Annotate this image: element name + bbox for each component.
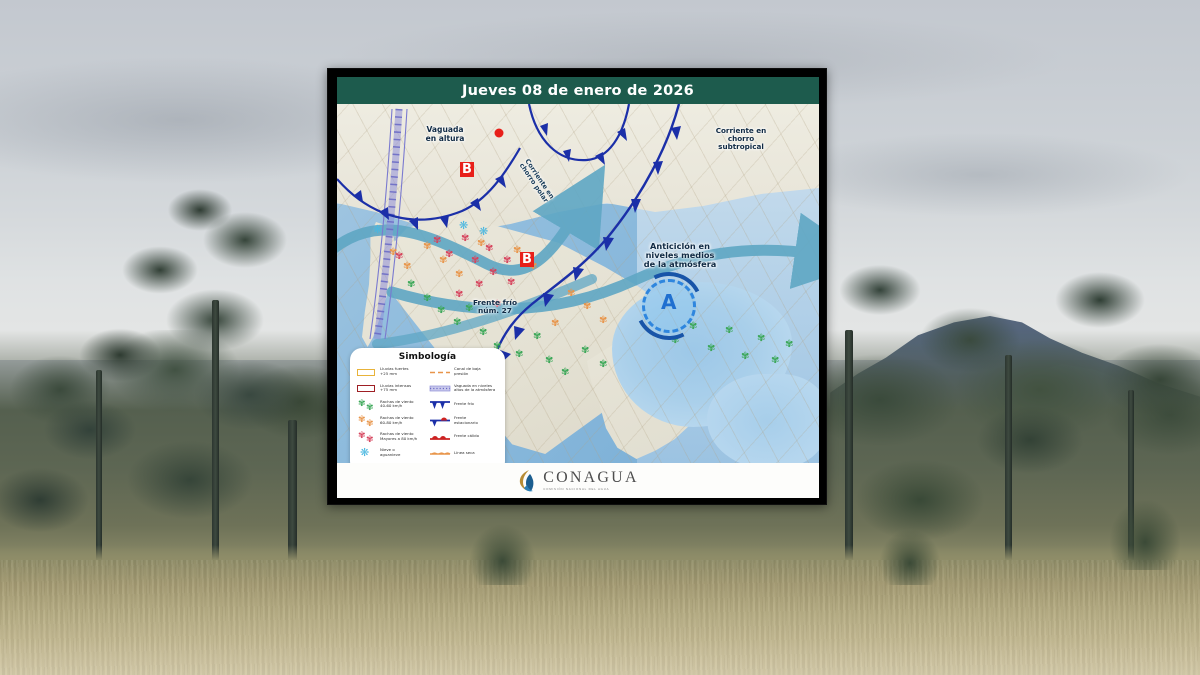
gust-icon-mild: ✾ [453, 318, 461, 328]
grass-texture [0, 560, 1200, 675]
gust-icon-strong: ✾ [445, 250, 453, 260]
legend-item-label: Frente estacionario [454, 416, 478, 425]
legend-left-column: Lluvias fuertes +25 mm Lluvias intensas … [355, 365, 426, 463]
gust-icon-strong: ✾ [395, 252, 403, 262]
cold-front-northwest [337, 148, 520, 230]
weather-map-canvas[interactable]: ✾ ✾ ✾ ✾ ✾ ✾ ✾ ✾ ✾ ✾ ✾ ✾ ✾ ✾ ✾ ✾ ✾ ✾ ✾ ✾ [337, 104, 819, 463]
conagua-weather-map-panel[interactable]: Jueves 08 de enero de 2026 [327, 68, 827, 505]
conagua-logo: CONAGUA COMISIÓN NACIONAL DEL AGUA [517, 469, 638, 493]
legend-box[interactable]: Simbología Lluvias fuertes +25 mm [350, 348, 505, 463]
conagua-logo-name: CONAGUA [543, 470, 638, 486]
conagua-eagle-water-icon [517, 469, 537, 493]
legend-right-column: Canal de baja presión Vaguada en niveles… [429, 365, 500, 463]
gust-icon: ✾ [551, 319, 559, 329]
legend-item-label: Frente frío [454, 402, 474, 407]
gust-icon: ✾ [567, 289, 575, 299]
trough-dashed-orange-icon [429, 366, 451, 379]
legend-item-linea-seca[interactable]: Línea seca [429, 446, 500, 460]
gust-icon-mild: ✾ [581, 346, 589, 356]
gust-icon-mild: ✾ [545, 356, 553, 366]
gust-icon-strong: ✾ [471, 256, 479, 266]
legend-item-rachas-40-60[interactable]: ✾ ✾ Rachas de viento 40-60 km/h [355, 397, 426, 411]
legend-item-label: Lluvias fuertes +25 mm [380, 367, 409, 376]
legend-item-label: Nieve o aguanieve [380, 448, 400, 457]
legend-item-lluvias-intensas[interactable]: Lluvias intensas +75 mm [355, 381, 426, 395]
gust-icon-strong: ✾ [433, 236, 441, 246]
wind-gust-green-icon: ✾ ✾ [355, 398, 377, 411]
legend-item-label: Rachas de viento Mayores a 80 km/h [380, 432, 417, 441]
legend-item-label: Frente cálido [454, 434, 479, 439]
gust-icon-mild: ✾ [599, 360, 607, 370]
snow-icon: ❋ [479, 226, 488, 237]
rain-box-red-icon [355, 382, 377, 395]
legend-item-frente-estacionario[interactable]: Frente estacionario [429, 414, 500, 428]
legend-item-label: Vaguada en niveles altos de la atmósfera [454, 384, 495, 393]
gust-icon: ✾ [599, 316, 607, 326]
conagua-logo-text: CONAGUA COMISIÓN NACIONAL DEL AGUA [543, 470, 638, 491]
gust-icon-strong: ✾ [489, 268, 497, 278]
gust-icon-mild: ✾ [707, 344, 715, 354]
gust-icon-mild: ✾ [423, 294, 431, 304]
gust-icon-mild: ✾ [725, 326, 733, 336]
gust-icon-mild: ✾ [561, 368, 569, 378]
gust-icon: ✾ [455, 270, 463, 280]
shrub [880, 530, 940, 585]
snow-icon: ❋ [459, 220, 468, 231]
gust-icon-strong: ✾ [507, 278, 515, 288]
low-pressure-b-marker-north: B [460, 162, 474, 177]
legend-item-nieve[interactable]: ❋ Nieve o aguanieve [355, 446, 426, 460]
legend-item-canal-baja-presion[interactable]: Canal de baja presión [429, 365, 500, 379]
gust-icon-mild: ✾ [757, 334, 765, 344]
snow-icon: ❋ [355, 446, 377, 459]
cold-front-icon [429, 398, 451, 411]
gust-icon-mild: ✾ [741, 352, 749, 362]
legend-item-rachas-mayores-80[interactable]: ✾ ✾ Rachas de viento Mayores a 80 km/h [355, 430, 426, 444]
gust-icon-mild: ✾ [437, 306, 445, 316]
snow-icon: ❋ [373, 224, 382, 235]
map-footer: CONAGUA COMISIÓN NACIONAL DEL AGUA [337, 463, 819, 498]
gust-icon-strong: ✾ [503, 256, 511, 266]
conagua-logo-subtitle: COMISIÓN NACIONAL DEL AGUA [543, 488, 638, 491]
anticyclone-a-marker: A [661, 290, 676, 314]
gust-icon-strong: ✾ [461, 234, 469, 244]
gust-icon-mild: ✾ [515, 350, 523, 360]
legend-item-vaguada-niveles-altos[interactable]: Vaguada en niveles altos de la atmósfera [429, 381, 500, 395]
gust-icon-mild: ✾ [465, 304, 473, 314]
polar-jet-stream [337, 212, 577, 270]
wind-gust-orange-icon: ✾ ✾ [355, 414, 377, 427]
legend-item-onda-tropical[interactable]: Onda tropical [429, 462, 500, 463]
gust-icon: ✾ [403, 262, 411, 272]
legend-item-label: Rachas de viento 40-60 km/h [380, 400, 414, 409]
stationary-front-icon [429, 414, 451, 427]
legend-item-frente-calido[interactable]: Frente cálido [429, 430, 500, 444]
low-pressure-b-marker-central: B [520, 252, 534, 267]
legend-item-lluvias-fuertes[interactable]: Lluvias fuertes +25 mm [355, 365, 426, 379]
warm-front-icon [429, 430, 451, 443]
legend-item-label: Canal de baja presión [454, 367, 481, 376]
legend-item-frente-frio[interactable]: Frente frío [429, 397, 500, 411]
legend-item-label: Lluvias intensas +75 mm [380, 384, 411, 393]
dry-line-icon [429, 446, 451, 459]
gust-icon-mild: ✾ [479, 328, 487, 338]
gust-icon-strong: ✾ [493, 300, 501, 310]
map-panel-inner: Jueves 08 de enero de 2026 [337, 77, 819, 498]
legend-item-label: Rachas de viento 60-80 km/h [380, 416, 414, 425]
gust-icon-strong: ✾ [475, 280, 483, 290]
upper-trough-purple-icon [429, 382, 451, 395]
wind-gust-red-icon: ✾ ✾ [355, 430, 377, 443]
gust-icon: ✾ [423, 242, 431, 252]
gust-icon-mild: ✾ [407, 280, 415, 290]
rain-box-yellow-icon [355, 366, 377, 379]
low-pressure-dot [495, 129, 504, 138]
legend-item-label: Línea seca [454, 451, 475, 456]
map-title-bar: Jueves 08 de enero de 2026 [337, 77, 819, 104]
page-title: Jueves 08 de enero de 2026 [462, 83, 694, 99]
gust-icon-mild: ✾ [771, 356, 779, 366]
gust-icon-mild: ✾ [533, 332, 541, 342]
shrub [470, 525, 535, 585]
gust-icon-mild: ✾ [785, 340, 793, 350]
cold-front-north-central [529, 104, 629, 165]
shrub [1110, 500, 1180, 570]
legend-item-tornados[interactable]: Tornados [355, 462, 426, 463]
legend-item-rachas-60-80[interactable]: ✾ ✾ Rachas de viento 60-80 km/h [355, 414, 426, 428]
pine-trees-left [0, 180, 380, 600]
gust-icon-strong: ✾ [455, 290, 463, 300]
gust-icon: ✾ [583, 302, 591, 312]
gust-icon-strong: ✾ [485, 244, 493, 254]
legend-title: Simbología [355, 352, 500, 362]
